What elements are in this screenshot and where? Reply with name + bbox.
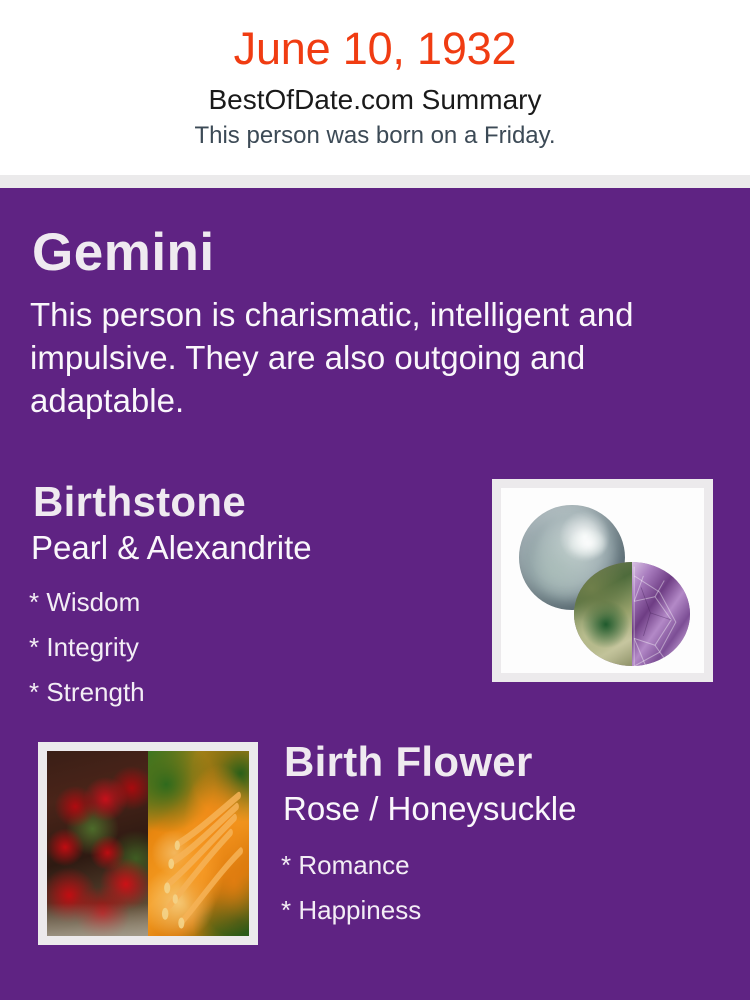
birthflower-names: Rose / Honeysuckle xyxy=(283,789,576,829)
birthflower-trait-list: * Romance * Happiness xyxy=(281,843,421,933)
pearl-and-alexandrite-photo xyxy=(501,488,704,673)
honeysuckle-tube-strokes xyxy=(148,751,249,936)
birthstone-image-frame xyxy=(492,479,713,682)
alexandrite-gem-icon xyxy=(574,562,690,666)
list-item: * Strength xyxy=(29,670,145,715)
summary-card: June 10, 1932 BestOfDate.com Summary Thi… xyxy=(0,0,750,1000)
zodiac-sign-title: Gemini xyxy=(32,224,215,282)
header-divider xyxy=(0,175,750,188)
birthflower-image-frame xyxy=(38,742,258,945)
zodiac-description: This person is charismatic, intelligent … xyxy=(30,293,720,422)
rose-and-honeysuckle-photo xyxy=(47,751,249,936)
red-roses-icon xyxy=(47,751,148,936)
birthstone-names: Pearl & Alexandrite xyxy=(31,528,312,568)
birthstone-title: Birthstone xyxy=(33,477,246,527)
page-title-date: June 10, 1932 xyxy=(0,0,750,76)
list-item: * Romance xyxy=(281,843,421,888)
details-panel: Gemini This person is charismatic, intel… xyxy=(0,188,750,1000)
orange-honeysuckle-icon xyxy=(148,751,249,936)
gem-facet-lines xyxy=(574,562,690,666)
list-item: * Happiness xyxy=(281,888,421,933)
birthflower-title: Birth Flower xyxy=(284,737,533,787)
site-summary-label: BestOfDate.com Summary xyxy=(0,76,750,117)
weekday-statement: This person was born on a Friday. xyxy=(0,117,750,151)
list-item: * Wisdom xyxy=(29,580,145,625)
birthstone-trait-list: * Wisdom * Integrity * Strength xyxy=(29,580,145,715)
list-item: * Integrity xyxy=(29,625,145,670)
header: June 10, 1932 BestOfDate.com Summary Thi… xyxy=(0,0,750,175)
